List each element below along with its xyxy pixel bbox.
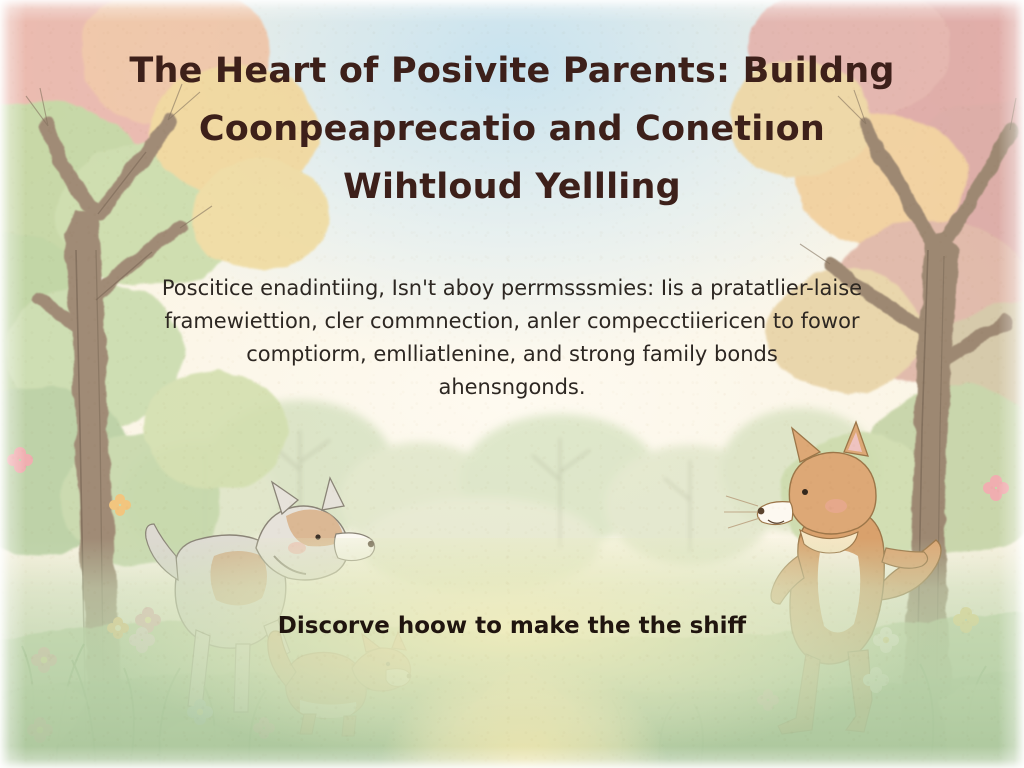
headline-line-1: The Heart of Posivite Parents: Buildng — [0, 42, 1024, 100]
text-overlay: The Heart of Posivite Parents: Buildng C… — [0, 0, 1024, 768]
subcopy-line-1: Poscitice enadintiing, Isn't aboy perrms… — [96, 272, 928, 305]
headline-line-2: Coonpeaprecatio and Conetiıon — [0, 100, 1024, 158]
illustration-canvas: The Heart of Posivite Parents: Buildng C… — [0, 0, 1024, 768]
subtitle-paragraph: Poscitice enadintiing, Isn't aboy perrms… — [96, 272, 928, 404]
subcopy-line-3: comptiorm, emlliatlenine, and strong fam… — [96, 338, 928, 371]
page-title: The Heart of Posivite Parents: Buildng C… — [0, 42, 1024, 216]
call-to-action-text: Discorve hoow to make the the shiff — [0, 610, 1024, 642]
headline-line-3: Wihtloud Yellling — [0, 158, 1024, 216]
subcopy-line-4: ahensngonds. — [96, 371, 928, 404]
subcopy-line-2: framewiettion, cler commnection, anler c… — [96, 305, 928, 338]
